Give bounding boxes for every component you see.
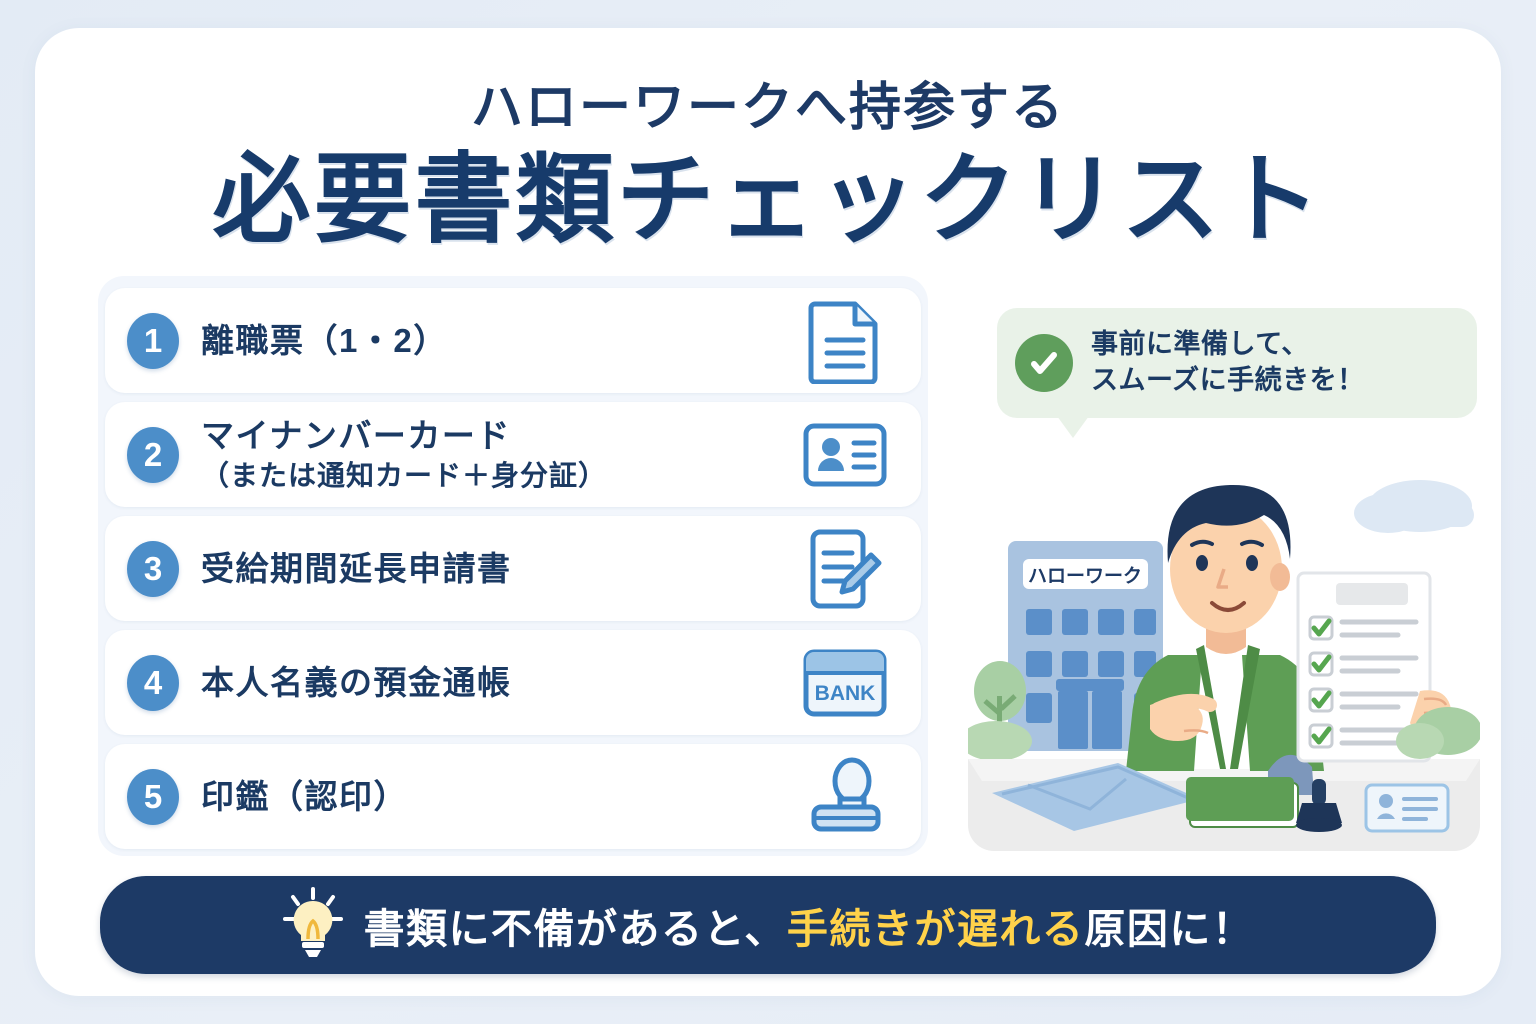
warning-text-part1: 書類に不備があると、: [364, 906, 787, 952]
item-label: マイナンバーカード: [201, 415, 795, 456]
document-icon: [795, 298, 895, 384]
tip-text: 事前に準備して、 スムーズに手続きを！: [1091, 327, 1365, 398]
item-text: マイナンバーカード （または通知カード＋身分証）: [201, 415, 795, 495]
id-card-icon: [795, 421, 895, 489]
checklist-item-2[interactable]: 2 マイナンバーカード （または通知カード＋身分証）: [105, 402, 921, 507]
page-title: 必要書類チェックリスト: [35, 143, 1501, 256]
item-label: 印鑑（認印）: [201, 776, 795, 817]
lightbulb-icon: [282, 887, 344, 964]
page-subtitle: ハローワークへ持参する: [35, 80, 1501, 137]
item-number-badge: 3: [127, 541, 179, 597]
tip-speech-bubble: 事前に準備して、 スムーズに手続きを！: [997, 308, 1477, 418]
hellowork-illustration: ハローワーク: [968, 441, 1480, 851]
item-text: 離職票（1・2）: [201, 320, 795, 361]
item-number-badge: 4: [127, 655, 179, 711]
warning-text: 書類に不備があると、手続きが遅れる原因に！: [364, 895, 1255, 955]
item-label: 受給期間延長申請書: [201, 548, 795, 589]
infographic-root: ハローワークへ持参する 必要書類チェックリスト 1 離職票（1・2）: [0, 0, 1536, 1024]
checklist-item-5[interactable]: 5 印鑑（認印）: [105, 744, 921, 849]
item-label: 本人名義の預金通帳: [201, 662, 795, 703]
main-card: ハローワークへ持参する 必要書類チェックリスト 1 離職票（1・2）: [35, 28, 1501, 996]
checklist-item-1[interactable]: 1 離職票（1・2）: [105, 288, 921, 393]
building-sign-text: ハローワーク: [1028, 565, 1142, 587]
item-number-badge: 2: [127, 427, 179, 483]
item-label: 離職票（1・2）: [201, 320, 795, 361]
form-pencil-icon: [795, 527, 895, 611]
illustration-column: 事前に準備して、 スムーズに手続きを！: [960, 276, 1480, 856]
item-text: 本人名義の預金通帳: [201, 662, 795, 703]
checklist-item-4[interactable]: 4 本人名義の預金通帳 BANK: [105, 630, 921, 735]
notebook-object: [1186, 777, 1298, 827]
item-text: 印鑑（認印）: [201, 776, 795, 817]
check-circle-icon: [1015, 334, 1073, 392]
item-number-badge: 5: [127, 769, 179, 825]
item-text: 受給期間延長申請書: [201, 548, 795, 589]
stamp-icon: [795, 757, 895, 837]
checklist-item-3[interactable]: 3 受給期間延長申請書: [105, 516, 921, 621]
page-title-block: ハローワークへ持参する 必要書類チェックリスト: [35, 80, 1501, 256]
item-number-badge: 1: [127, 313, 179, 369]
warning-banner: 書類に不備があると、手続きが遅れる原因に！: [100, 876, 1436, 974]
warning-text-part2: 原因に！: [1084, 906, 1254, 952]
bankbook-icon: BANK: [795, 648, 895, 718]
tip-line-2: スムーズに手続きを！: [1091, 363, 1365, 399]
item-sublabel: （または通知カード＋身分証）: [201, 458, 795, 494]
bankbook-label: BANK: [815, 682, 876, 705]
checklist: 1 離職票（1・2） 2 マイナンバーカード: [98, 280, 928, 857]
id-card-object: [1366, 785, 1448, 831]
tip-line-1: 事前に準備して、: [1091, 327, 1365, 363]
warning-text-highlight: 手続きが遅れる: [787, 906, 1085, 952]
